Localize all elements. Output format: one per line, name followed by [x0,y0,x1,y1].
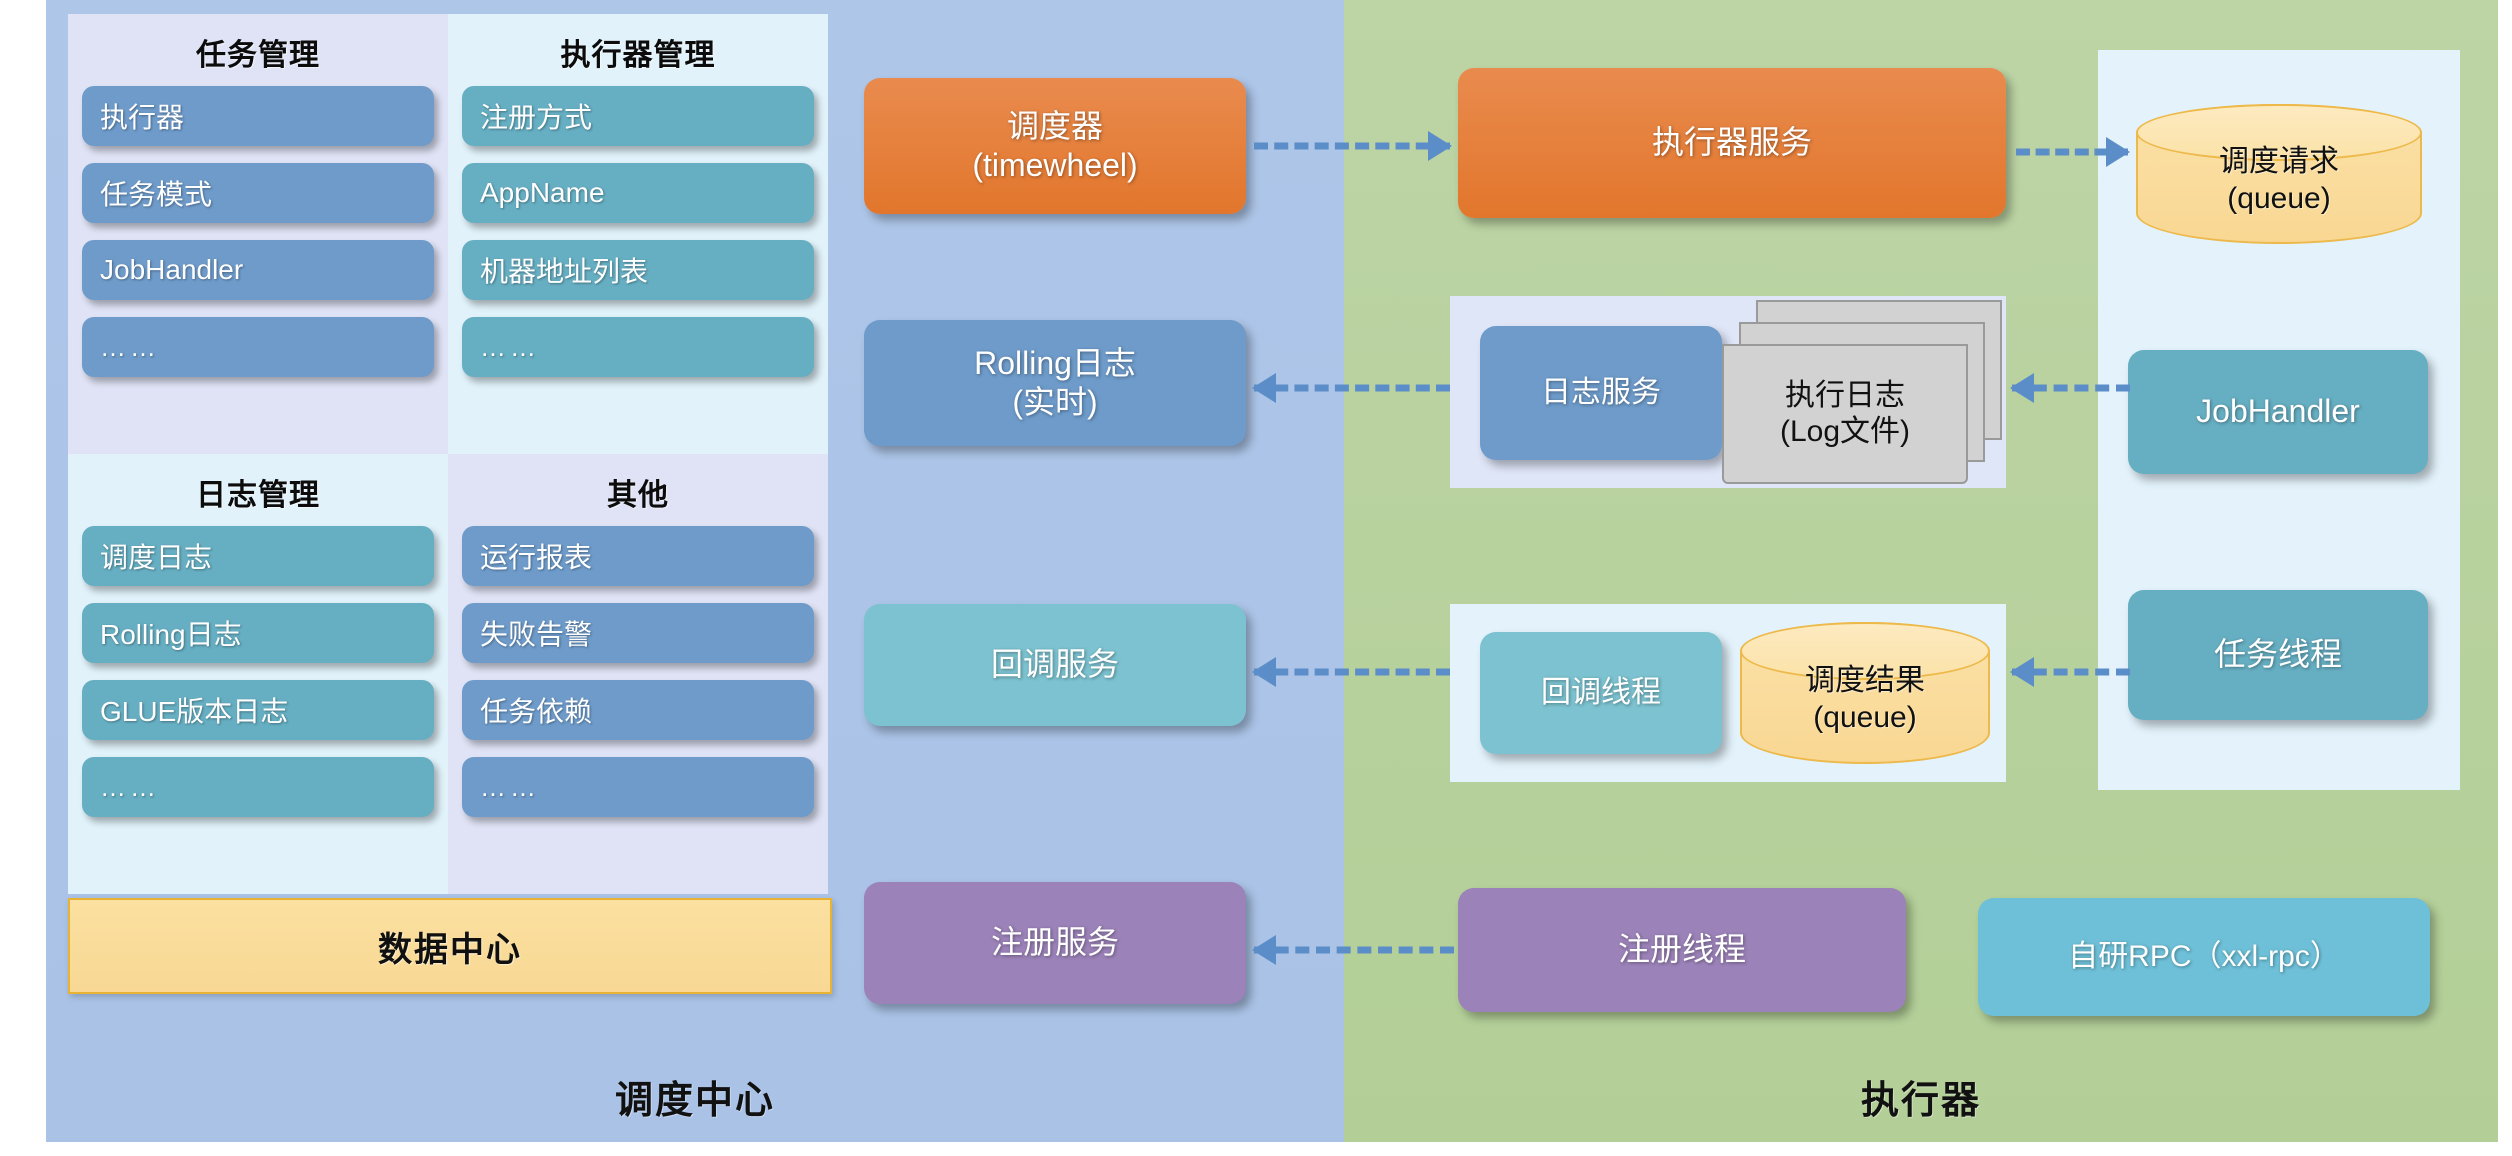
node-scheduler[interactable]: 调度器 (timewheel) [864,78,1246,214]
pill-run-report[interactable]: 运行报表 [462,526,814,586]
panel-task-management: 任务管理 执行器 任务模式 JobHandler …… [68,14,448,454]
arrow-left-dashed-icon [1252,373,1276,403]
arrow-left-dashed-icon [1252,657,1276,687]
pill-register-mode[interactable]: 注册方式 [462,86,814,146]
pill-task-mode[interactable]: 任务模式 [82,163,434,223]
node-rolling-log-line1: Rolling日志 [974,344,1136,383]
node-callback-service-label: 回调服务 [991,645,1119,684]
arrow-shaft [1254,669,1450,676]
node-self-rpc-label: 自研RPC（xxl-rpc） [2068,939,2340,976]
node-scheduler-line2: (timewheel) [972,146,1137,185]
executor-zone-label: 执行器 [1344,1069,2498,1124]
node-jobhandler-label: JobHandler [2196,392,2360,431]
node-jobhandler[interactable]: JobHandler [2128,350,2428,474]
pill-machine-address-list[interactable]: 机器地址列表 [462,240,814,300]
bottom-white-strip [0,1142,2512,1156]
arrow-shaft [1254,385,1450,392]
admin-modules-grid: 任务管理 执行器 任务模式 JobHandler …… 执行器管理 注册方式 A… [68,14,828,894]
exec-log-files-text: 执行日志 (Log文件) [1722,344,1968,484]
node-task-thread[interactable]: 任务线程 [2128,590,2428,720]
node-rolling-log[interactable]: Rolling日志 (实时) [864,320,1246,446]
cylinder-schedule-result-line2: (queue) [1805,700,1925,737]
pill-rolling-log[interactable]: Rolling日志 [82,603,434,663]
node-register-service[interactable]: 注册服务 [864,882,1246,1004]
pill-schedule-log[interactable]: 调度日志 [82,526,434,586]
arrow-left-dashed-icon [1252,935,1276,965]
node-executor-service-label: 执行器服务 [1652,123,1812,162]
pill-failure-alarm[interactable]: 失败告警 [462,603,814,663]
panel-log-management: 日志管理 调度日志 Rolling日志 GLUE版本日志 …… [68,454,448,894]
panel-executor-management: 执行器管理 注册方式 AppName 机器地址列表 …… [448,14,828,454]
node-register-service-label: 注册服务 [991,923,1119,962]
cylinder-schedule-result: 调度结果 (queue) [1740,622,1990,764]
pill-task-jobhandler[interactable]: JobHandler [82,240,434,300]
node-callback-thread[interactable]: 回调线程 [1480,632,1722,754]
node-task-thread-label: 任务线程 [2214,635,2342,674]
node-register-thread[interactable]: 注册线程 [1458,888,1906,1012]
pill-log-more[interactable]: …… [82,757,434,817]
node-log-service[interactable]: 日志服务 [1480,326,1722,460]
panel-title-log-management: 日志管理 [82,470,434,514]
node-callback-thread-label: 回调线程 [1541,675,1661,712]
pill-glue-version-log[interactable]: GLUE版本日志 [82,680,434,740]
panel-title-executor-management: 执行器管理 [462,30,814,74]
node-executor-service[interactable]: 执行器服务 [1458,68,2006,218]
panel-title-task-management: 任务管理 [82,30,434,74]
exec-log-files-line2: (Log文件) [1780,414,1910,450]
panel-other: 其他 运行报表 失败告警 任务依赖 …… [448,454,828,894]
pill-executor-more[interactable]: …… [462,317,814,377]
cylinder-schedule-request-line2: (queue) [2219,181,2339,218]
scheduler-zone-label: 调度中心 [46,1069,1344,1124]
arrow-right-dashed-icon [2106,137,2130,167]
arrow-left-dashed-icon [2010,373,2034,403]
node-log-service-label: 日志服务 [1541,375,1661,412]
architecture-diagram: 调度中心 执行器 任务管理 执行器 任务模式 JobHandler …… 执行器… [0,0,2512,1156]
arrow-shaft [1254,947,1454,954]
node-scheduler-line1: 调度器 [972,107,1137,146]
exec-log-files-line1: 执行日志 [1780,378,1910,414]
arrow-shaft [1254,143,1450,150]
node-register-thread-label: 注册线程 [1618,930,1746,969]
cylinder-schedule-request: 调度请求 (queue) [2136,104,2422,244]
exec-log-files-stack: 执行日志 (Log文件) [1722,300,2002,484]
pill-task-dependency[interactable]: 任务依赖 [462,680,814,740]
pill-task-more[interactable]: …… [82,317,434,377]
arrow-right-dashed-icon [1428,131,1452,161]
pill-appname[interactable]: AppName [462,163,814,223]
data-center-label: 数据中心 [378,922,522,971]
arrow-left-dashed-icon [2010,657,2034,687]
node-rolling-log-line2: (实时) [974,383,1136,422]
node-callback-service[interactable]: 回调服务 [864,604,1246,726]
node-self-rpc[interactable]: 自研RPC（xxl-rpc） [1978,898,2430,1016]
data-center-box: 数据中心 [68,898,832,994]
panel-title-other: 其他 [462,470,814,514]
cylinder-schedule-request-line1: 调度请求 [2219,144,2339,181]
pill-other-more[interactable]: …… [462,757,814,817]
pill-task-executor[interactable]: 执行器 [82,86,434,146]
cylinder-schedule-result-line1: 调度结果 [1805,663,1925,700]
